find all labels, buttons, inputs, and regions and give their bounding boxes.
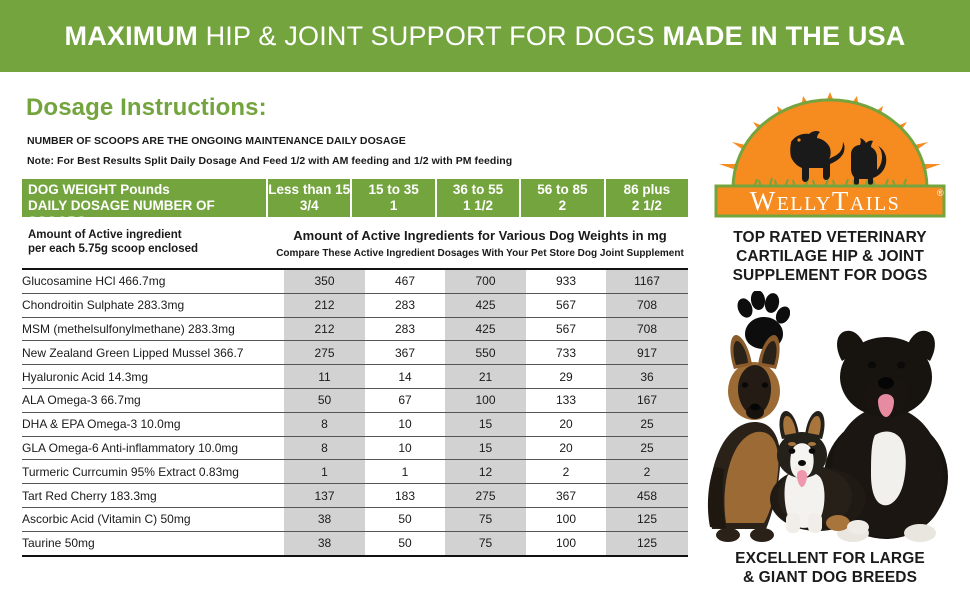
table-row: Taurine 50mg385075100125 — [22, 531, 688, 555]
dosage-value: 21 — [445, 365, 526, 389]
table-row: ALA Omega-3 66.7mg5067100133167 — [22, 388, 688, 412]
scoop-count-4: 2 1/2 — [632, 198, 662, 214]
table-row: DHA & EPA Omega-3 10.0mg810152025 — [22, 412, 688, 436]
table-row: New Zealand Green Lipped Mussel 366.7275… — [22, 341, 688, 365]
weight-range-3: 56 to 85 — [537, 182, 587, 198]
tagline-line-2: CARTILAGE HIP & JOINT — [690, 247, 970, 266]
dosage-value: 2 — [526, 460, 606, 484]
dosage-value: 100 — [445, 388, 526, 412]
amount-various-weights: Amount of Active Ingredients for Various… — [272, 228, 688, 244]
product-label-page: MAXIMUM HIP & JOINT SUPPORT FOR DOGS MAD… — [0, 0, 970, 600]
dosage-value: 367 — [365, 341, 445, 365]
scoop-count-1: 1 — [390, 198, 398, 214]
scoop-count-2: 1 1/2 — [463, 198, 493, 214]
registered-mark: ® — [937, 188, 944, 198]
dosage-value: 50 — [365, 531, 445, 555]
dosage-value: 125 — [606, 507, 688, 531]
dosage-value: 1 — [365, 460, 445, 484]
ingredient-name: Ascorbic Acid (Vitamin C) 50mg — [22, 507, 284, 531]
ingredient-name: GLA Omega-6 Anti-inflammatory 10.0mg — [22, 436, 284, 460]
dosage-value: 275 — [284, 341, 365, 365]
dosage-value: 38 — [284, 531, 365, 555]
dosage-value: 8 — [284, 436, 365, 460]
weight-column-0: Less than 15 3/4 — [266, 179, 350, 217]
table-row: Glucosamine HCl 466.7mg3504677009331167 — [22, 269, 688, 293]
weight-range-1: 15 to 35 — [368, 182, 418, 198]
dosage-value: 50 — [365, 507, 445, 531]
table-row: MSM (methelsulfonylmethane) 283.3mg21228… — [22, 317, 688, 341]
footer-block: EXCELLENT FOR LARGE & GIANT DOG BREEDS — [690, 549, 970, 587]
dosage-value: 933 — [526, 269, 606, 293]
dosage-value: 12 — [445, 460, 526, 484]
tagline-line-3: SUPPLEMENT FOR DOGS — [690, 266, 970, 285]
table-subheader-right: Amount of Active Ingredients for Various… — [272, 228, 688, 261]
dosage-value: 133 — [526, 388, 606, 412]
dosage-value: 367 — [526, 484, 606, 508]
right-column: WELLYTAILS ® TOP RATED VETERINARY CARTIL… — [690, 82, 970, 587]
dosage-value: 11 — [284, 365, 365, 389]
weight-range-2: 36 to 55 — [453, 182, 503, 198]
dosage-value: 567 — [526, 293, 606, 317]
ingredient-name: Glucosamine HCl 466.7mg — [22, 269, 284, 293]
ingredient-name: ALA Omega-3 66.7mg — [22, 388, 284, 412]
german-shepherd-dog — [708, 335, 780, 542]
ingredient-name: Turmeric Currcumin 95% Extract 0.83mg — [22, 460, 284, 484]
weight-range-0: Less than 15 — [268, 182, 350, 198]
dosage-value: 15 — [445, 412, 526, 436]
dosage-value: 67 — [365, 388, 445, 412]
dosage-value: 38 — [284, 507, 365, 531]
wellytails-logo-svg: WELLYTAILS ® — [699, 90, 961, 218]
dosage-value: 10 — [365, 436, 445, 460]
amount-active-line2: per each 5.75g scoop enclosed — [28, 242, 272, 256]
table-row: Turmeric Currcumin 95% Extract 0.83mg111… — [22, 460, 688, 484]
dosage-value: 8 — [284, 412, 365, 436]
table-subheader: Amount of Active ingredient per each 5.7… — [22, 228, 688, 261]
dosage-value: 350 — [284, 269, 365, 293]
weight-column-1: 15 to 35 1 — [350, 179, 434, 217]
dosage-value: 700 — [445, 269, 526, 293]
dosage-value: 25 — [606, 412, 688, 436]
daily-dosage-label: DAILY DOSAGE NUMBER OF SCOOPS — [28, 198, 266, 230]
dosage-strip-labels: DOG WEIGHT Pounds DAILY DOSAGE NUMBER OF… — [22, 179, 266, 217]
dosage-value: 20 — [526, 436, 606, 460]
table-row: Tart Red Cherry 183.3mg137183275367458 — [22, 484, 688, 508]
tagline-line-1: TOP RATED VETERINARY — [690, 228, 970, 247]
weight-column-4: 86 plus 2 1/2 — [604, 179, 688, 217]
scoop-count-0: 3/4 — [300, 198, 319, 214]
dosage-value: 733 — [526, 341, 606, 365]
wellytails-logo: WELLYTAILS ® — [699, 90, 961, 218]
dosage-value: 550 — [445, 341, 526, 365]
banner-part-maximum: MAXIMUM — [65, 21, 206, 51]
dosage-value: 50 — [284, 388, 365, 412]
dog-weight-label: DOG WEIGHT Pounds — [28, 182, 266, 198]
dosage-note-maintenance: NUMBER OF SCOOPS ARE THE ONGOING MAINTEN… — [27, 135, 690, 147]
dosage-value: 20 — [526, 412, 606, 436]
banner-part-usa: MADE IN THE USA — [662, 21, 905, 51]
dosage-note-split: Note: For Best Results Split Daily Dosag… — [27, 155, 690, 167]
tagline-block: TOP RATED VETERINARY CARTILAGE HIP & JOI… — [690, 228, 970, 285]
dosage-value: 2 — [606, 460, 688, 484]
dosage-value: 1 — [284, 460, 365, 484]
footer-line-1: EXCELLENT FOR LARGE — [690, 549, 970, 568]
table-row: GLA Omega-6 Anti-inflammatory 10.0mg8101… — [22, 436, 688, 460]
weight-range-4: 86 plus — [624, 182, 671, 198]
top-banner: MAXIMUM HIP & JOINT SUPPORT FOR DOGS MAD… — [0, 0, 970, 72]
dosage-value: 425 — [445, 293, 526, 317]
weight-column-2: 36 to 55 1 1/2 — [435, 179, 519, 217]
table-row: Hyaluronic Acid 14.3mg1114212936 — [22, 365, 688, 389]
dosage-value: 167 — [606, 388, 688, 412]
ingredient-name: Chondroitin Sulphate 283.3mg — [22, 293, 284, 317]
ingredient-name: MSM (methelsulfonylmethane) 283.3mg — [22, 317, 284, 341]
ingredient-name: New Zealand Green Lipped Mussel 366.7 — [22, 341, 284, 365]
dosage-value: 917 — [606, 341, 688, 365]
dosage-value: 212 — [284, 317, 365, 341]
dosage-value: 25 — [606, 436, 688, 460]
dosage-value: 100 — [526, 531, 606, 555]
dosage-value: 458 — [606, 484, 688, 508]
ingredient-name: Tart Red Cherry 183.3mg — [22, 484, 284, 508]
table-subheader-left: Amount of Active ingredient per each 5.7… — [22, 228, 272, 261]
dosage-instructions-title: Dosage Instructions: — [26, 94, 690, 122]
dosage-value: 212 — [284, 293, 365, 317]
ingredient-name: Hyaluronic Acid 14.3mg — [22, 365, 284, 389]
dosage-value: 125 — [606, 531, 688, 555]
table-row: Ascorbic Acid (Vitamin C) 50mg3850751001… — [22, 507, 688, 531]
dosage-value: 100 — [526, 507, 606, 531]
dosage-value: 75 — [445, 507, 526, 531]
dosage-value: 708 — [606, 317, 688, 341]
dosage-value: 29 — [526, 365, 606, 389]
dosage-value: 567 — [526, 317, 606, 341]
ingredient-name: DHA & EPA Omega-3 10.0mg — [22, 412, 284, 436]
banner-headline: MAXIMUM HIP & JOINT SUPPORT FOR DOGS MAD… — [65, 21, 906, 52]
left-column: Dosage Instructions: NUMBER OF SCOOPS AR… — [22, 82, 690, 557]
dosage-value: 708 — [606, 293, 688, 317]
footer-line-2: & GIANT DOG BREEDS — [690, 568, 970, 587]
compare-dosages-note: Compare These Active Ingredient Dosages … — [272, 246, 688, 261]
dosage-value: 467 — [365, 269, 445, 293]
scoop-count-3: 2 — [559, 198, 567, 214]
banner-part-support: HIP & JOINT SUPPORT FOR DOGS — [206, 21, 663, 51]
dosage-value: 1167 — [606, 269, 688, 293]
dosage-value: 283 — [365, 317, 445, 341]
dosage-value: 283 — [365, 293, 445, 317]
dosage-value: 183 — [365, 484, 445, 508]
dosage-value: 10 — [365, 412, 445, 436]
dogs-group-image — [690, 317, 970, 547]
ingredient-name: Taurine 50mg — [22, 531, 284, 555]
table-row: Chondroitin Sulphate 283.3mg212283425567… — [22, 293, 688, 317]
dogs-photo-area — [690, 289, 970, 547]
ingredient-dosage-table: Glucosamine HCl 466.7mg3504677009331167C… — [22, 268, 688, 557]
dosage-value: 137 — [284, 484, 365, 508]
dosage-value: 75 — [445, 531, 526, 555]
dosage-value: 275 — [445, 484, 526, 508]
dosage-value: 14 — [365, 365, 445, 389]
weight-column-3: 56 to 85 2 — [519, 179, 603, 217]
dog-weight-dosage-strip: DOG WEIGHT Pounds DAILY DOSAGE NUMBER OF… — [22, 179, 688, 217]
dosage-value: 425 — [445, 317, 526, 341]
dosage-value: 36 — [606, 365, 688, 389]
amount-active-line1: Amount of Active ingredient — [28, 228, 272, 242]
dosage-value: 15 — [445, 436, 526, 460]
